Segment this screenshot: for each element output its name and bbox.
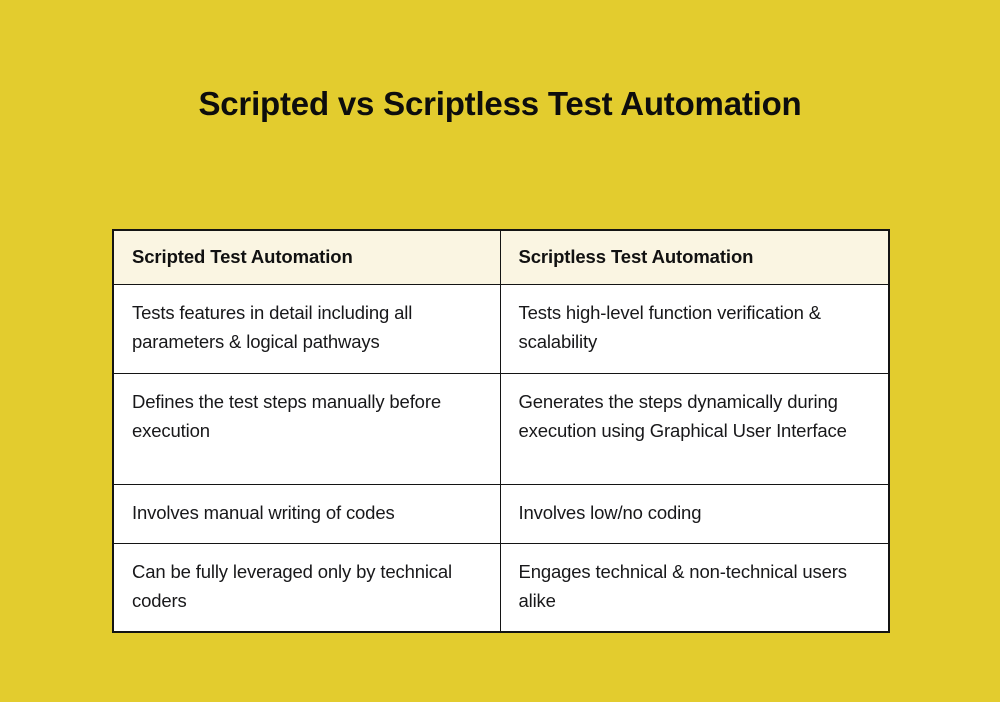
table-header: Scripted Test Automation Scriptless Test… — [113, 230, 889, 285]
table-cell-scriptless-text: Engages technical & non-technical users … — [519, 557, 869, 615]
page-title: Scripted vs Scriptless Test Automation — [0, 82, 1000, 126]
table-cell-scripted-text: Can be fully leveraged only by technical… — [132, 557, 480, 615]
table-cell-scripted-text: Defines the test steps manually before e… — [132, 387, 480, 445]
column-header-scripted-label: Scripted Test Automation — [132, 245, 482, 269]
table-cell-scriptless: Involves low/no coding — [500, 485, 889, 544]
table-cell-scripted: Tests features in detail including all p… — [113, 285, 500, 374]
column-header-scriptless: Scriptless Test Automation — [500, 230, 889, 285]
table-cell-scripted: Defines the test steps manually before e… — [113, 374, 500, 485]
column-header-scriptless-label: Scriptless Test Automation — [519, 245, 871, 269]
table-row: Can be fully leveraged only by technical… — [113, 544, 889, 633]
table-body: Tests features in detail including all p… — [113, 285, 889, 633]
table-cell-scriptless-text: Tests high-level function verification &… — [519, 298, 869, 356]
table-cell-scriptless-text: Involves low/no coding — [519, 498, 869, 527]
table-cell-scriptless: Generates the steps dynamically during e… — [500, 374, 889, 485]
table-cell-scriptless-text: Generates the steps dynamically during e… — [519, 387, 869, 445]
table-row: Defines the test steps manually before e… — [113, 374, 889, 485]
table-header-row: Scripted Test Automation Scriptless Test… — [113, 230, 889, 285]
table-cell-scriptless: Tests high-level function verification &… — [500, 285, 889, 374]
table-cell-scripted: Involves manual writing of codes — [113, 485, 500, 544]
table-cell-scriptless: Engages technical & non-technical users … — [500, 544, 889, 633]
table-row: Tests features in detail including all p… — [113, 285, 889, 374]
table-cell-scripted: Can be fully leveraged only by technical… — [113, 544, 500, 633]
comparison-table: Scripted Test Automation Scriptless Test… — [112, 229, 890, 633]
table-cell-scripted-text: Tests features in detail including all p… — [132, 298, 480, 356]
table-cell-scripted-text: Involves manual writing of codes — [132, 498, 480, 527]
column-header-scripted: Scripted Test Automation — [113, 230, 500, 285]
infographic-page: Scripted vs Scriptless Test Automation S… — [0, 0, 1000, 702]
table-row: Involves manual writing of codes Involve… — [113, 485, 889, 544]
